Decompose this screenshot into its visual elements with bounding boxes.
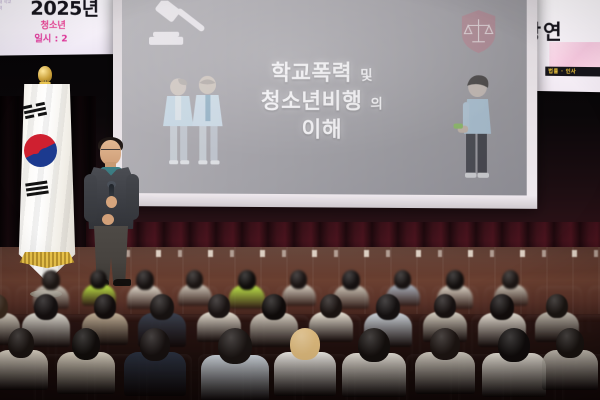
presenter-right-arm	[126, 174, 139, 220]
audience-member-head	[498, 328, 530, 362]
audience-member-head	[34, 294, 58, 320]
slide-line3-main: 이해	[302, 117, 343, 141]
audience-member-head	[290, 328, 320, 360]
audience-member-head	[546, 294, 568, 318]
audience-member-head	[502, 270, 519, 289]
audience-member-head	[186, 270, 203, 289]
audience-member-head	[394, 270, 411, 289]
south-korean-flag	[8, 62, 82, 298]
audience-member-head	[556, 328, 584, 358]
audience-member-head	[72, 328, 100, 360]
justice-shield-icon	[460, 9, 498, 54]
audience-row	[0, 328, 600, 400]
projection-screen: 학교폭력 및 청소년비행 의 이해	[113, 0, 537, 209]
presenter-hand-upper	[106, 196, 117, 208]
audience-member-head	[446, 270, 464, 290]
stage-light-reflections	[96, 250, 600, 257]
right-panel-thumbnail	[549, 42, 600, 67]
audience-member-head	[358, 328, 390, 362]
audience-member-head	[320, 294, 342, 318]
slide-line2-suffix: 의	[370, 97, 383, 112]
audience	[0, 268, 600, 400]
projected-slide: 학교폭력 및 청소년비행 의 이해	[122, 0, 527, 195]
left-panel-line2: 일시 : 2	[34, 31, 67, 45]
audience-member-head	[290, 270, 307, 289]
audience-member-head	[94, 294, 116, 319]
right-panel-caption-strip: 법률 · 인사	[545, 67, 600, 77]
audience-member-head	[376, 294, 400, 320]
audience-member-head	[238, 270, 256, 290]
slide-headline-line-2: 청소년비행 의	[122, 87, 527, 116]
left-panel-line1: 청소년	[41, 18, 66, 31]
audience-member-head	[140, 328, 170, 361]
audience-member-head	[136, 270, 154, 290]
audience-member-head	[8, 328, 34, 358]
audience-member-head	[342, 270, 360, 290]
presenter-hand-lower	[102, 214, 114, 225]
slide-line1-suffix: 및	[360, 69, 373, 84]
audience-member-head	[430, 328, 460, 360]
audience-member-head	[208, 294, 230, 318]
audience-member-head	[218, 328, 252, 364]
slide-line1-main: 학교폭력	[271, 60, 352, 84]
gavel-icon	[147, 0, 213, 57]
slide-headline-line-1: 학교폭력 및	[122, 58, 527, 87]
left-panel-edge-text: 안내 학교 폭력	[0, 0, 11, 43]
slide-line2-main: 청소년비행	[261, 89, 362, 113]
audience-member-head	[90, 270, 107, 289]
flag-taeguk-circle	[24, 134, 57, 167]
slide-headline: 학교폭력 및 청소년비행 의 이해	[122, 58, 527, 145]
presenter-left-arm	[84, 174, 97, 222]
audience-member-head	[490, 294, 514, 320]
presenter	[80, 140, 142, 288]
presenter-glasses	[101, 149, 120, 155]
slide-headline-line-3: 이해	[122, 115, 527, 144]
audience-member-head	[42, 270, 60, 290]
audience-member-head	[150, 294, 174, 320]
left-display-panel: 안내 학교 폭력 2025년 청소년 일시 : 2	[0, 0, 122, 56]
auditorium-lecture-photo: 안내 학교 폭력 2025년 청소년 일시 : 2 청 강연 사 [2] 법률 …	[0, 0, 600, 400]
right-panel-strip-text: 법률 · 인사	[548, 68, 576, 76]
audience-member-head	[262, 294, 286, 320]
audience-member-head	[434, 294, 456, 318]
